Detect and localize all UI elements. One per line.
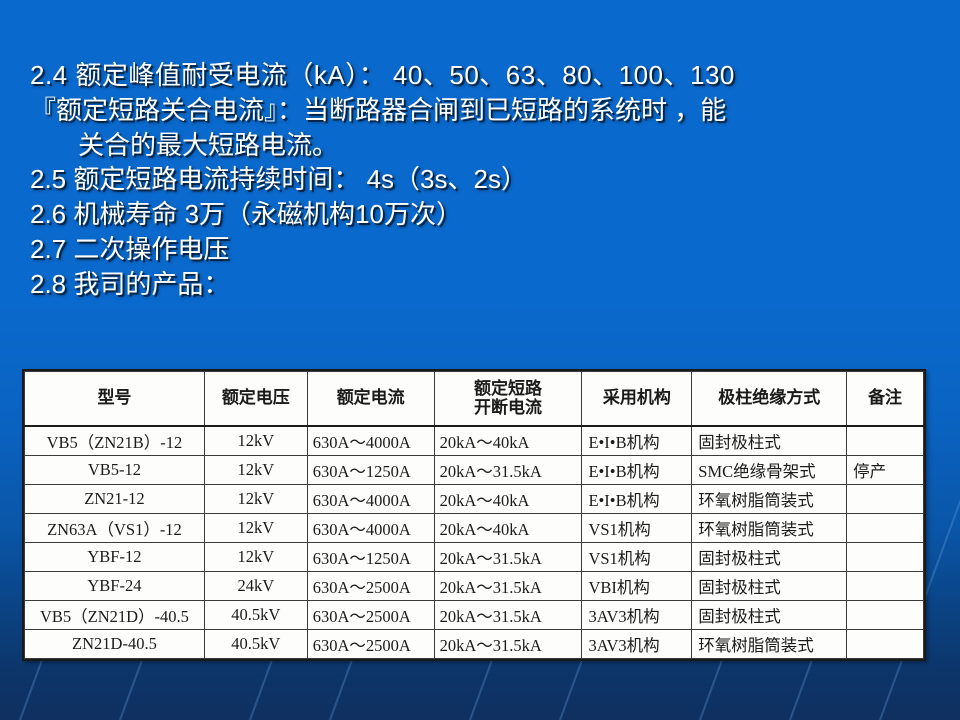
cell-current: 630A～2500A xyxy=(307,600,434,629)
table-row: YBF-1212kV630A～1250A20kA～31.5kAVS1机构固封极柱… xyxy=(25,542,924,571)
column-header-current: 额定电流 xyxy=(307,372,434,426)
product-table: 型号 额定电压 额定电流 额定短路 开断电流 采用机构 极柱绝缘方式 备注 VB… xyxy=(24,371,924,659)
cell-model: VB5-12 xyxy=(25,455,205,484)
cell-breaking: 20kA～31.5kA xyxy=(434,600,582,629)
cell-voltage: 12kV xyxy=(204,426,307,456)
bullet-2-5: 2.5 额定短路电流持续时间： 4s（3s、2s） xyxy=(30,162,940,197)
cell-note xyxy=(847,484,924,513)
cell-voltage: 12kV xyxy=(204,455,307,484)
table-row: VB5-1212kV630A～1250A20kA～31.5kAE•I•B机构SM… xyxy=(25,455,924,484)
cell-insulation: 固封极柱式 xyxy=(692,426,847,456)
product-table-container: 型号 额定电压 额定电流 额定短路 开断电流 采用机构 极柱绝缘方式 备注 VB… xyxy=(22,369,926,661)
cell-current: 630A～2500A xyxy=(307,571,434,600)
cell-voltage: 40.5kV xyxy=(204,600,307,629)
cell-insulation: 环氧树脂筒装式 xyxy=(692,513,847,542)
cell-note xyxy=(847,542,924,571)
cell-breaking: 20kA～40kA xyxy=(434,484,582,513)
slide-canvas: 2.4 额定峰值耐受电流（kA）： 40、50、63、80、100、130 『额… xyxy=(0,0,960,720)
cell-note xyxy=(847,600,924,629)
cell-current: 630A～4000A xyxy=(307,513,434,542)
cell-model: ZN21-12 xyxy=(25,484,205,513)
bullet-2-7: 2.7 二次操作电压 xyxy=(30,232,940,267)
column-header-mechanism: 采用机构 xyxy=(582,372,692,426)
cell-note xyxy=(847,426,924,456)
bullet-2-8: 2.8 我司的产品： xyxy=(30,267,940,302)
cell-insulation: 环氧树脂筒装式 xyxy=(692,484,847,513)
cell-mechanism: VS1机构 xyxy=(582,542,692,571)
cell-insulation: 固封极柱式 xyxy=(692,571,847,600)
cell-mechanism: VBI机构 xyxy=(582,571,692,600)
column-header-breaking-line2: 开断电流 xyxy=(441,398,576,418)
cell-model: ZN63A（VS1）-12 xyxy=(25,513,205,542)
table-row: VB5（ZN21D）-40.540.5kV630A～2500A20kA～31.5… xyxy=(25,600,924,629)
cell-current: 630A～4000A xyxy=(307,484,434,513)
bullet-2-4: 2.4 额定峰值耐受电流（kA）： 40、50、63、80、100、130 xyxy=(30,58,940,93)
cell-voltage: 12kV xyxy=(204,542,307,571)
cell-mechanism: VS1机构 xyxy=(582,513,692,542)
bullet-quote-line2: 关合的最大短路电流。 xyxy=(30,128,940,163)
column-header-breaking-line1: 额定短路 xyxy=(441,379,576,399)
cell-current: 630A～4000A xyxy=(307,426,434,456)
cell-voltage: 12kV xyxy=(204,484,307,513)
column-header-voltage: 额定电压 xyxy=(204,372,307,426)
cell-current: 630A～1250A xyxy=(307,542,434,571)
cell-current: 630A～1250A xyxy=(307,455,434,484)
cell-note xyxy=(847,513,924,542)
cell-mechanism: 3AV3机构 xyxy=(582,629,692,658)
cell-mechanism: E•I•B机构 xyxy=(582,426,692,456)
table-row: ZN21D-40.540.5kV630A～2500A20kA～31.5kA3AV… xyxy=(25,629,924,658)
cell-voltage: 40.5kV xyxy=(204,629,307,658)
cell-model: ZN21D-40.5 xyxy=(25,629,205,658)
cell-note xyxy=(847,629,924,658)
table-header: 型号 额定电压 额定电流 额定短路 开断电流 采用机构 极柱绝缘方式 备注 xyxy=(25,372,924,426)
table-row: YBF-2424kV630A～2500A20kA～31.5kAVBI机构固封极柱… xyxy=(25,571,924,600)
column-header-model: 型号 xyxy=(25,372,205,426)
content-text-block: 2.4 额定峰值耐受电流（kA）： 40、50、63、80、100、130 『额… xyxy=(30,58,940,302)
cell-breaking: 20kA～31.5kA xyxy=(434,455,582,484)
table-body: VB5（ZN21B）-1212kV630A～4000A20kA～40kAE•I•… xyxy=(25,426,924,659)
cell-voltage: 12kV xyxy=(204,513,307,542)
cell-model: YBF-12 xyxy=(25,542,205,571)
cell-breaking: 20kA～40kA xyxy=(434,513,582,542)
table-row: ZN21-1212kV630A～4000A20kA～40kAE•I•B机构环氧树… xyxy=(25,484,924,513)
table-row: ZN63A（VS1）-1212kV630A～4000A20kA～40kAVS1机… xyxy=(25,513,924,542)
cell-insulation: SMC绝缘骨架式 xyxy=(692,455,847,484)
column-header-insulation: 极柱绝缘方式 xyxy=(692,372,847,426)
column-header-breaking: 额定短路 开断电流 xyxy=(434,372,582,426)
bullet-quote-line1: 『额定短路关合电流』：当断路器合闸到已短路的系统时 ，能 xyxy=(30,93,940,128)
cell-model: VB5（ZN21B）-12 xyxy=(25,426,205,456)
cell-note: 停产 xyxy=(847,455,924,484)
cell-breaking: 20kA～31.5kA xyxy=(434,542,582,571)
bullet-2-6: 2.6 机械寿命 3万（永磁机构10万次） xyxy=(30,197,940,232)
cell-mechanism: E•I•B机构 xyxy=(582,455,692,484)
cell-current: 630A～2500A xyxy=(307,629,434,658)
table-row: VB5（ZN21B）-1212kV630A～4000A20kA～40kAE•I•… xyxy=(25,426,924,456)
cell-model: YBF-24 xyxy=(25,571,205,600)
table-header-row: 型号 额定电压 额定电流 额定短路 开断电流 采用机构 极柱绝缘方式 备注 xyxy=(25,372,924,426)
cell-mechanism: E•I•B机构 xyxy=(582,484,692,513)
column-header-note: 备注 xyxy=(847,372,924,426)
cell-breaking: 20kA～40kA xyxy=(434,426,582,456)
cell-mechanism: 3AV3机构 xyxy=(582,600,692,629)
cell-breaking: 20kA～31.5kA xyxy=(434,629,582,658)
cell-note xyxy=(847,571,924,600)
cell-insulation: 环氧树脂筒装式 xyxy=(692,629,847,658)
cell-insulation: 固封极柱式 xyxy=(692,600,847,629)
cell-breaking: 20kA～31.5kA xyxy=(434,571,582,600)
cell-insulation: 固封极柱式 xyxy=(692,542,847,571)
cell-voltage: 24kV xyxy=(204,571,307,600)
cell-model: VB5（ZN21D）-40.5 xyxy=(25,600,205,629)
